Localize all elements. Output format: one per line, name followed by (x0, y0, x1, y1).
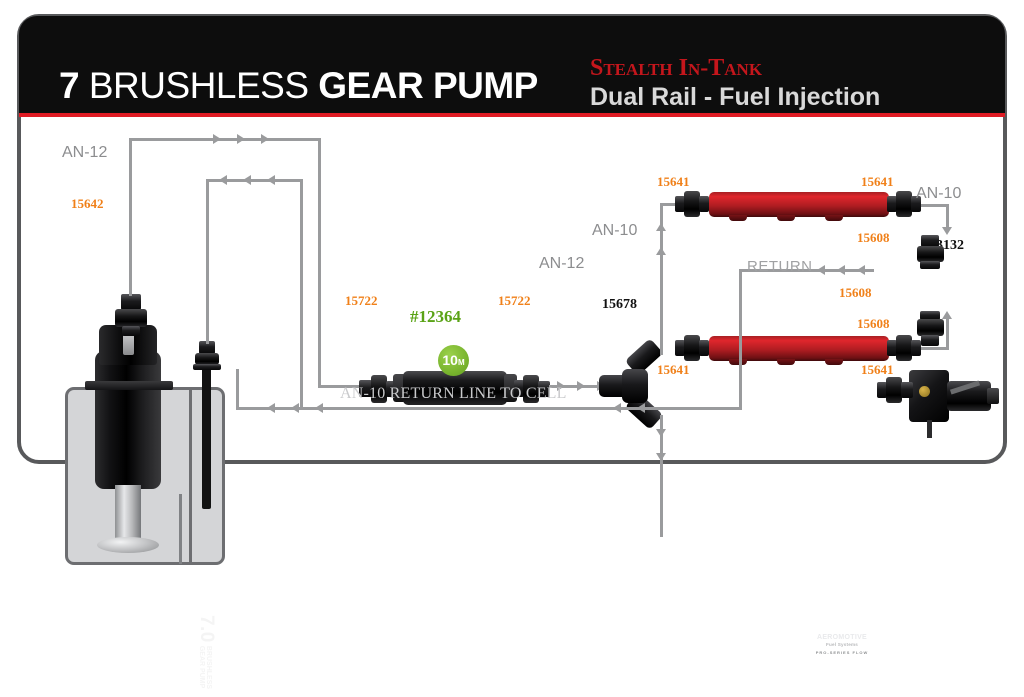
diagram-canvas: 7.0BRUSHLESSGEAR PUMP 15642 AN-12 (21, 119, 1003, 462)
rail-lower-injector-3 (825, 359, 843, 365)
an12-arrow-2 (577, 381, 585, 391)
lower-rail-to-reg-line (921, 347, 949, 350)
tank-return-tube (179, 494, 182, 564)
fuel-pressure-regulator-body (909, 370, 949, 422)
rail-upper-injector-3 (825, 215, 843, 221)
header-subtitle: Stealth In-Tank Dual Rail - Fuel Injecti… (590, 56, 880, 112)
label-15722-inlet: 15722 (345, 293, 378, 309)
pump-model-line1: BRUSHLESS (205, 646, 212, 689)
label-15608-middle: 15608 (839, 285, 872, 301)
label-15641-upper-right: 15641 (861, 174, 894, 190)
filter-brand-sub: Fuel Systems (807, 641, 877, 648)
rail-upper-injector-1 (729, 215, 747, 221)
label-an12-filter: AN-12 (539, 255, 584, 273)
rail-upper-injector-2 (777, 215, 795, 221)
an10-down-arrow-1 (656, 429, 666, 437)
an10-up-arrow-2 (656, 247, 666, 255)
bottom-return-arrow-4 (613, 403, 621, 413)
regulator-adjuster-tip (987, 388, 999, 404)
label-15641-lower-left: 15641 (657, 362, 690, 378)
rail-lower-injector-2 (777, 359, 795, 365)
filter-brand-logo: AEROMOTIVE Fuel Systems PRO-SERIES FLOW (807, 634, 877, 656)
supply-arrow-1 (213, 134, 221, 144)
regulator-stem (927, 420, 932, 438)
fuel-rail-lower (709, 336, 889, 361)
label-filter-part-number: #12364 (410, 307, 461, 327)
pump-model-number: 7.0 (196, 615, 217, 643)
label-an12-pump: AN-12 (62, 144, 107, 162)
tank-return-line-down (300, 179, 303, 409)
label-return-line-to-cell: AN-10 RETURN LINE TO CELL (340, 385, 567, 403)
pump-mount-flange (85, 381, 173, 390)
supply-line-vertical-up (129, 138, 132, 296)
header-accent-rule (19, 113, 1005, 117)
supply-line-horizontal-top (129, 138, 321, 141)
bottom-return-line-up-to-tank (236, 369, 239, 410)
pump-stem (115, 485, 141, 543)
subtitle-stealth: Stealth In-Tank (590, 56, 880, 80)
tank-return-arrow-2 (243, 175, 251, 185)
bottom-return-arrow-5 (637, 403, 645, 413)
label-15608-top: 15608 (857, 230, 890, 246)
pump-foot (97, 537, 159, 553)
filter-brand-sub2: PRO-SERIES FLOW (807, 649, 877, 656)
pump-model-text: 7.0BRUSHLESSGEAR PUMP (195, 607, 217, 697)
label-15678: 15678 (602, 297, 637, 313)
label-an10-regulator: AN-10 (916, 185, 961, 203)
diagram-page: 7 BRUSHLESS GEAR PUMP Stealth In-Tank Du… (0, 0, 1024, 482)
tank-return-arrow-1 (219, 175, 227, 185)
brushless-gear-pump-body: 7.0BRUSHLESSGEAR PUMP (95, 351, 161, 489)
regulator-gold-port (919, 386, 930, 397)
page-title: 7 BRUSHLESS GEAR PUMP (59, 66, 538, 106)
an10-down-arrow-2 (656, 453, 666, 461)
filter-brand: AEROMOTIVE (807, 634, 877, 641)
tank-return-line-vertical (206, 179, 209, 344)
label-return: RETURN (747, 258, 813, 275)
title-number: 7 (59, 65, 79, 106)
title-light: BRUSHLESS (89, 65, 309, 106)
upper-rail-to-reg-line (921, 204, 949, 207)
fuel-tank-divider (189, 387, 192, 565)
subtitle-dual-rail: Dual Rail - Fuel Injection (590, 82, 880, 112)
return-arrow-3 (857, 265, 865, 275)
supply-arrow-3 (261, 134, 269, 144)
bottom-return-arrow-2 (291, 403, 299, 413)
title-bold: GEAR PUMP (318, 65, 538, 106)
pump-model-line2: GEAR PUMP (198, 646, 205, 688)
micron-value: 10 (442, 352, 458, 368)
y-block-center (622, 369, 648, 403)
micron-unit: M (458, 358, 465, 367)
label-15642: 15642 (71, 196, 104, 212)
fuel-rail-upper (709, 192, 889, 217)
supply-line-vertical-down (318, 138, 321, 388)
an10-up-arrow-1 (656, 223, 666, 231)
upper-reg-arrow (942, 227, 952, 235)
pickup-tube (202, 362, 211, 509)
return-arrow-1 (817, 265, 825, 275)
bottom-return-line (236, 407, 742, 410)
label-an10-upper: AN-10 (592, 222, 637, 240)
lower-reg-arrow (942, 311, 952, 319)
lower-rail-to-reg-up (946, 317, 949, 349)
header-bar: 7 BRUSHLESS GEAR PUMP Stealth In-Tank Du… (19, 16, 1005, 116)
return-line-vertical (739, 269, 742, 407)
rail-lower-injector-1 (729, 359, 747, 365)
micron-badge-icon: 10M (438, 345, 469, 376)
label-15608-bottom: 15608 (857, 316, 890, 332)
label-15722-outlet: 15722 (498, 293, 531, 309)
label-15641-upper-left: 15641 (657, 174, 690, 190)
supply-arrow-2 (237, 134, 245, 144)
bottom-return-arrow-1 (267, 403, 275, 413)
return-arrow-2 (837, 265, 845, 275)
bottom-return-arrow-3 (315, 403, 323, 413)
tank-return-arrow-3 (267, 175, 275, 185)
label-15641-lower-right: 15641 (861, 362, 894, 378)
